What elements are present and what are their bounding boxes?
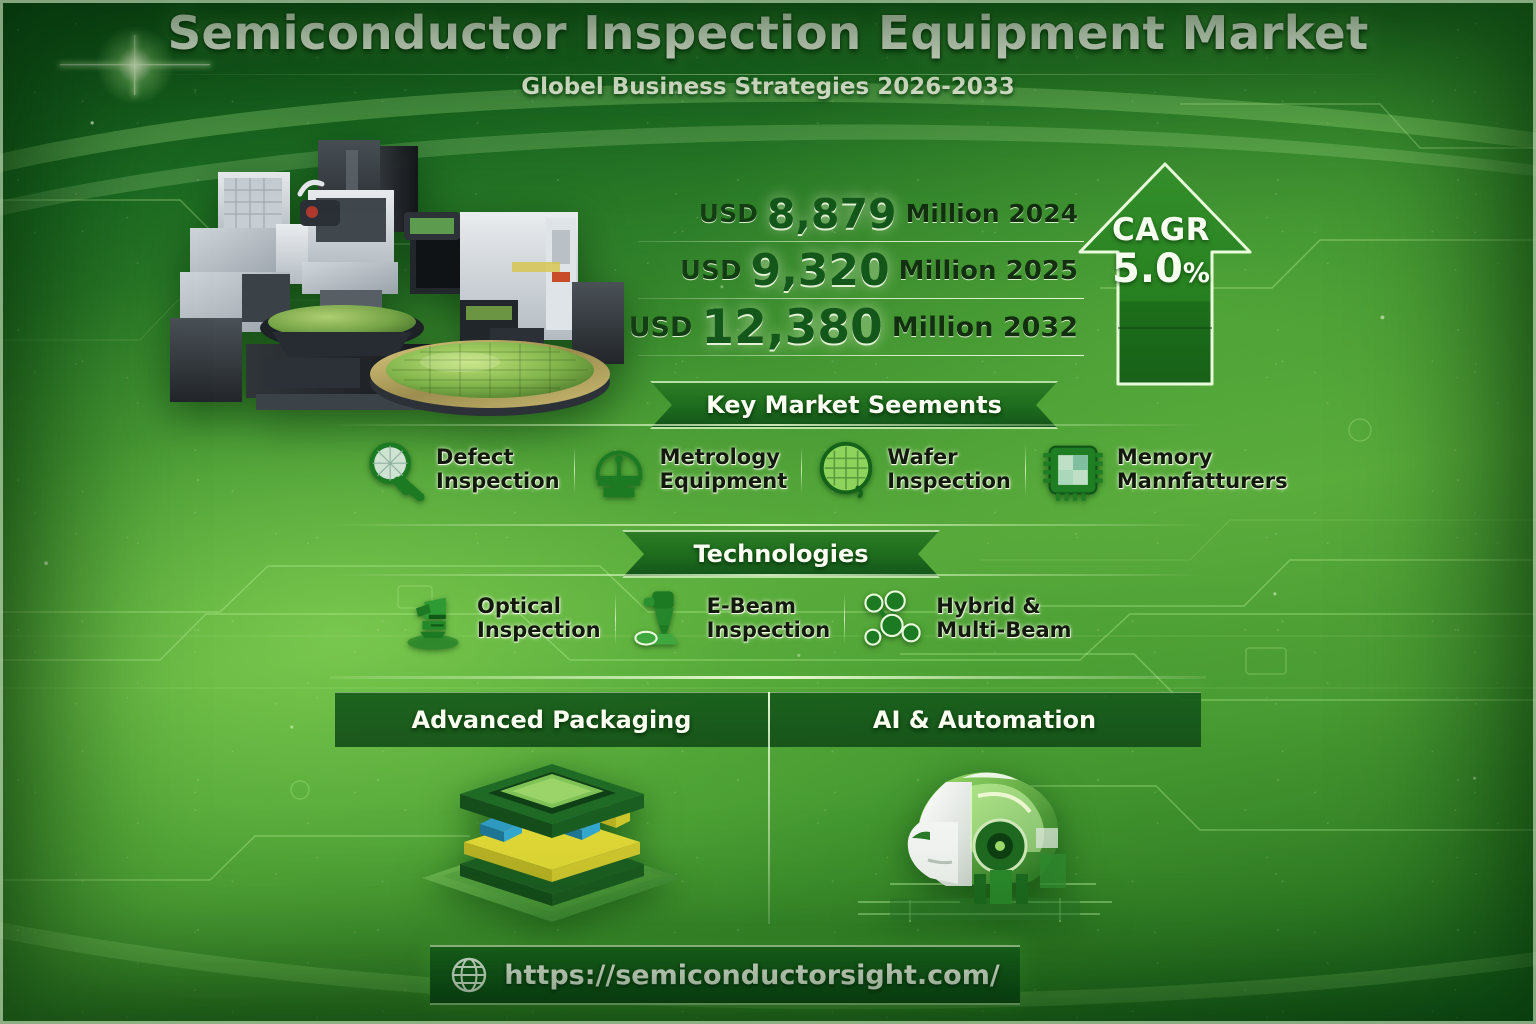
canvas-border — [0, 0, 1536, 1024]
infographic-canvas: Semiconductor Inspection Equipment Marke… — [0, 0, 1536, 1024]
